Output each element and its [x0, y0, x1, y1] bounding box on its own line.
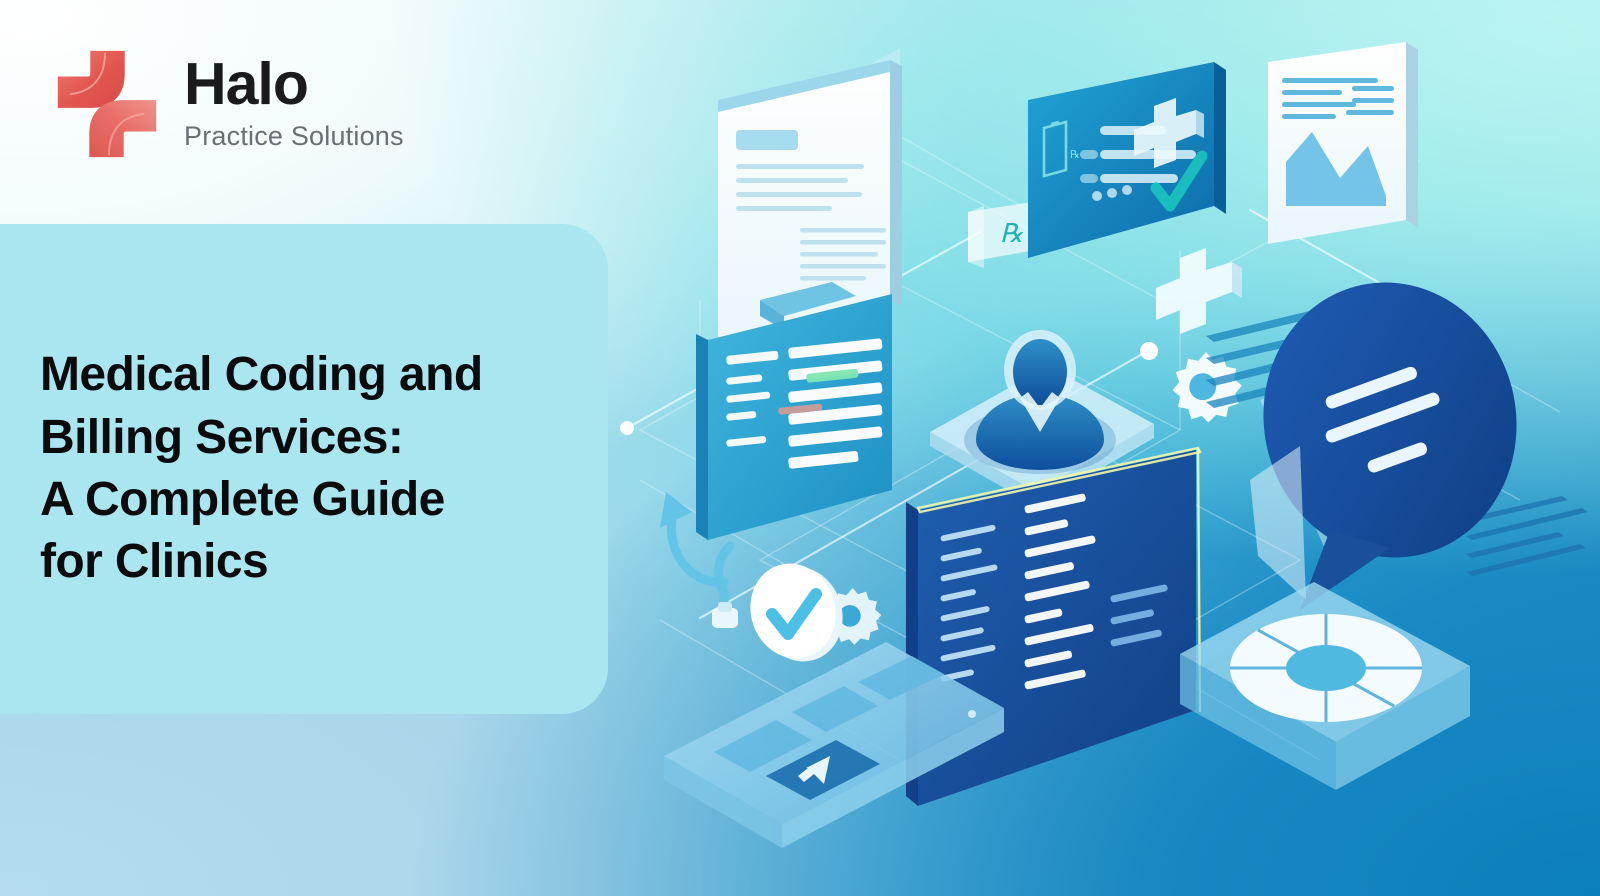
medical-cross-block-2-object — [1156, 248, 1242, 334]
brand-tagline: Practice Solutions — [184, 123, 404, 150]
brand-name: Halo — [184, 56, 404, 114]
chat-bubble-object — [1238, 259, 1542, 610]
analytics-report-card-object — [1268, 42, 1418, 244]
headline-line-1: Medical Coding and — [40, 344, 483, 406]
stethoscope-chestpiece-icon — [712, 602, 738, 628]
hero-banner: ℞ ℞ — [0, 0, 1600, 896]
brand-wordmark: Halo Practice Solutions — [184, 44, 404, 150]
brand-logo[interactable]: Halo Practice Solutions — [48, 44, 404, 164]
headline-line-2: Billing Services: — [40, 407, 483, 469]
page-title: Medical Coding and Billing Services: A C… — [40, 344, 483, 594]
gear-icon — [1172, 352, 1241, 423]
headline-line-3: A Complete Guide — [40, 469, 483, 531]
claim-form-card-object: ℞ — [1028, 62, 1226, 258]
svg-text:℞: ℞ — [1070, 149, 1080, 161]
headline-line-4: for Clinics — [40, 531, 483, 593]
donut-chart-platform-object — [1180, 582, 1470, 790]
svg-text:℞: ℞ — [1000, 219, 1024, 248]
hero-illustration: ℞ ℞ — [600, 0, 1600, 896]
headline-card: Medical Coding and Billing Services: A C… — [0, 224, 608, 714]
verified-check-badge-object — [738, 552, 855, 672]
medical-cross-swoosh-icon — [48, 44, 166, 164]
headline-card-inner: Medical Coding and Billing Services: A C… — [0, 318, 539, 620]
